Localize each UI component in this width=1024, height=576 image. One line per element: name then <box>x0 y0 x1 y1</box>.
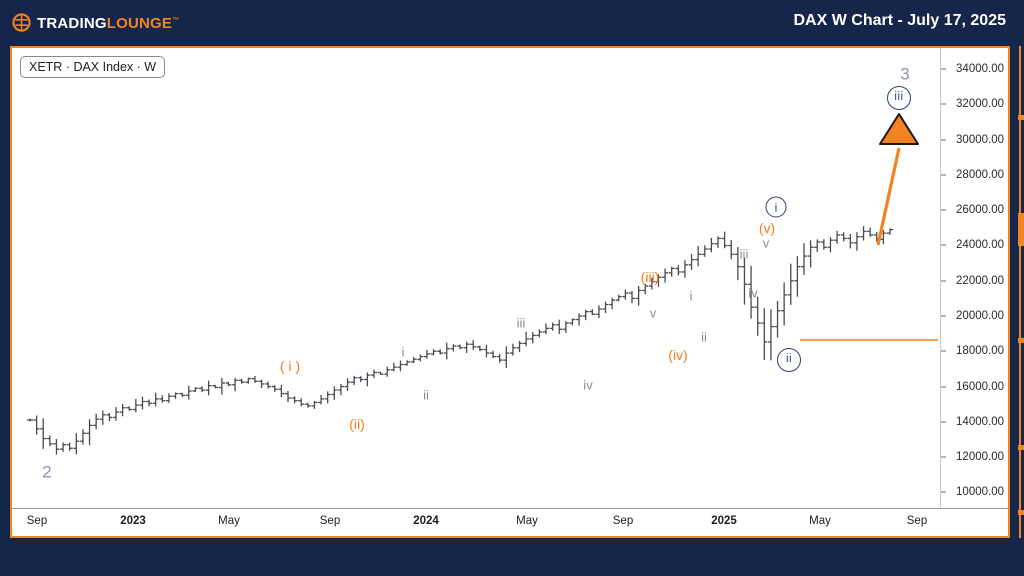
time-tick-label: 2025 <box>711 515 737 527</box>
brand-logo-secondary: LOUNGE <box>107 15 172 32</box>
forecast-arrow-head <box>880 114 918 144</box>
price-tick-mark <box>941 104 946 105</box>
analysis-overlay: 18530 <box>12 48 940 508</box>
price-tick-mark <box>941 421 946 422</box>
time-tick-label: Sep <box>907 515 927 527</box>
chart-frame: 18530 2( i )(ii)iiiiiiivv(iii)(iv)iiiiii… <box>10 46 1010 538</box>
time-tick-label: 2024 <box>413 515 439 527</box>
time-tick-label: Sep <box>613 515 633 527</box>
price-tick-mark <box>941 457 946 458</box>
price-tick-label: 14000.00 <box>956 416 1004 428</box>
level-marker-mid <box>1018 338 1024 343</box>
price-tick-label: 30000.00 <box>956 134 1004 146</box>
wave-label-wave-ii-minute: (ii) <box>349 417 365 431</box>
price-axis[interactable]: 10000.0012000.0014000.0016000.0018000.00… <box>940 48 1008 508</box>
price-tick-label: 18000.00 <box>956 345 1004 357</box>
price-tick-mark <box>941 316 946 317</box>
wave-label-wave-iii-circled: iii <box>887 86 911 110</box>
level-marker-high <box>1018 115 1024 120</box>
wave-label-wave-iv-minute: (iv) <box>668 348 687 362</box>
price-tick-label: 20000.00 <box>956 310 1004 322</box>
wave-label-wave-3-major: 3 <box>900 66 909 83</box>
time-tick-label: May <box>218 515 240 527</box>
wave-label-wave-i-minor-2: i <box>690 290 693 303</box>
wave-label-wave-iii-minor-1: iii <box>517 317 526 330</box>
chart-screenshot-root: TRADINGLOUNGE™ DAX W Chart - July 17, 20… <box>0 0 1024 576</box>
price-tick-label: 34000.00 <box>956 63 1004 75</box>
wave-label-wave-iii-minor-2: iii <box>740 248 749 261</box>
wave-label-wave-ii-minor-2: ii <box>701 331 707 344</box>
brand-logo[interactable]: TRADINGLOUNGE™ <box>12 11 179 33</box>
page-header: TRADINGLOUNGE™ DAX W Chart - July 17, 20… <box>0 0 1024 45</box>
price-tick-mark <box>941 351 946 352</box>
price-tick-label: 26000.00 <box>956 204 1004 216</box>
wave-label-wave-v-minor-2: v <box>763 237 770 250</box>
current-price-marker <box>1018 213 1024 246</box>
price-edge-markers <box>1018 46 1024 538</box>
price-tick-mark <box>941 139 946 140</box>
price-tick-mark <box>941 492 946 493</box>
price-tick-label: 22000.00 <box>956 275 1004 287</box>
chart-legend-chip[interactable]: XETR · DAX Index · W <box>20 56 165 78</box>
price-tick-mark <box>941 280 946 281</box>
level-marker-bottom <box>1018 510 1024 515</box>
wave-label-wave-i-minor-1: i <box>402 346 405 359</box>
price-tick-mark <box>941 386 946 387</box>
wave-label-wave-ii-minor-1: ii <box>423 389 429 402</box>
wave-label-wave-iv-minor-1: iv <box>583 379 592 392</box>
brand-logo-primary: TRADING <box>37 15 107 32</box>
wave-label-wave-2: 2 <box>42 464 51 481</box>
time-axis[interactable]: Sep2023MaySep2024MaySep2025MaySep <box>12 508 1008 536</box>
wave-label-wave-v-minute: (v) <box>759 221 775 235</box>
brand-logo-text: TRADINGLOUNGE™ <box>37 11 179 33</box>
price-tick-mark <box>941 210 946 211</box>
time-tick-label: May <box>516 515 538 527</box>
price-tick-label: 10000.00 <box>956 486 1004 498</box>
wave-label-wave-i-minute: ( i ) <box>280 359 300 373</box>
wave-label-wave-iii-minute: (iii) <box>641 270 660 284</box>
level-marker-low <box>1018 445 1024 450</box>
price-tick-label: 16000.00 <box>956 381 1004 393</box>
page-title: DAX W Chart - July 17, 2025 <box>793 12 1006 30</box>
tradinglounge-circle-icon <box>12 13 31 32</box>
price-tick-label: 32000.00 <box>956 98 1004 110</box>
price-tick-mark <box>941 69 946 70</box>
trademark-mark: ™ <box>172 17 179 24</box>
price-tick-mark <box>941 245 946 246</box>
forecast-arrow-shaft <box>878 148 899 245</box>
wave-label-wave-v-minor-1: v <box>650 307 657 320</box>
time-tick-label: Sep <box>320 515 340 527</box>
time-tick-label: 2023 <box>120 515 146 527</box>
price-tick-mark <box>941 174 946 175</box>
chart-plot-area[interactable]: 18530 2( i )(ii)iiiiiiivv(iii)(iv)iiiiii… <box>12 48 940 508</box>
wave-label-wave-i-circled: i <box>766 197 787 218</box>
wave-label-wave-iv-minor-2: iv <box>748 287 757 300</box>
wave-label-wave-ii-circled: ii <box>777 348 801 372</box>
price-tick-label: 24000.00 <box>956 239 1004 251</box>
price-tick-label: 28000.00 <box>956 169 1004 181</box>
price-tick-label: 12000.00 <box>956 451 1004 463</box>
time-tick-label: Sep <box>27 515 47 527</box>
time-tick-label: May <box>809 515 831 527</box>
